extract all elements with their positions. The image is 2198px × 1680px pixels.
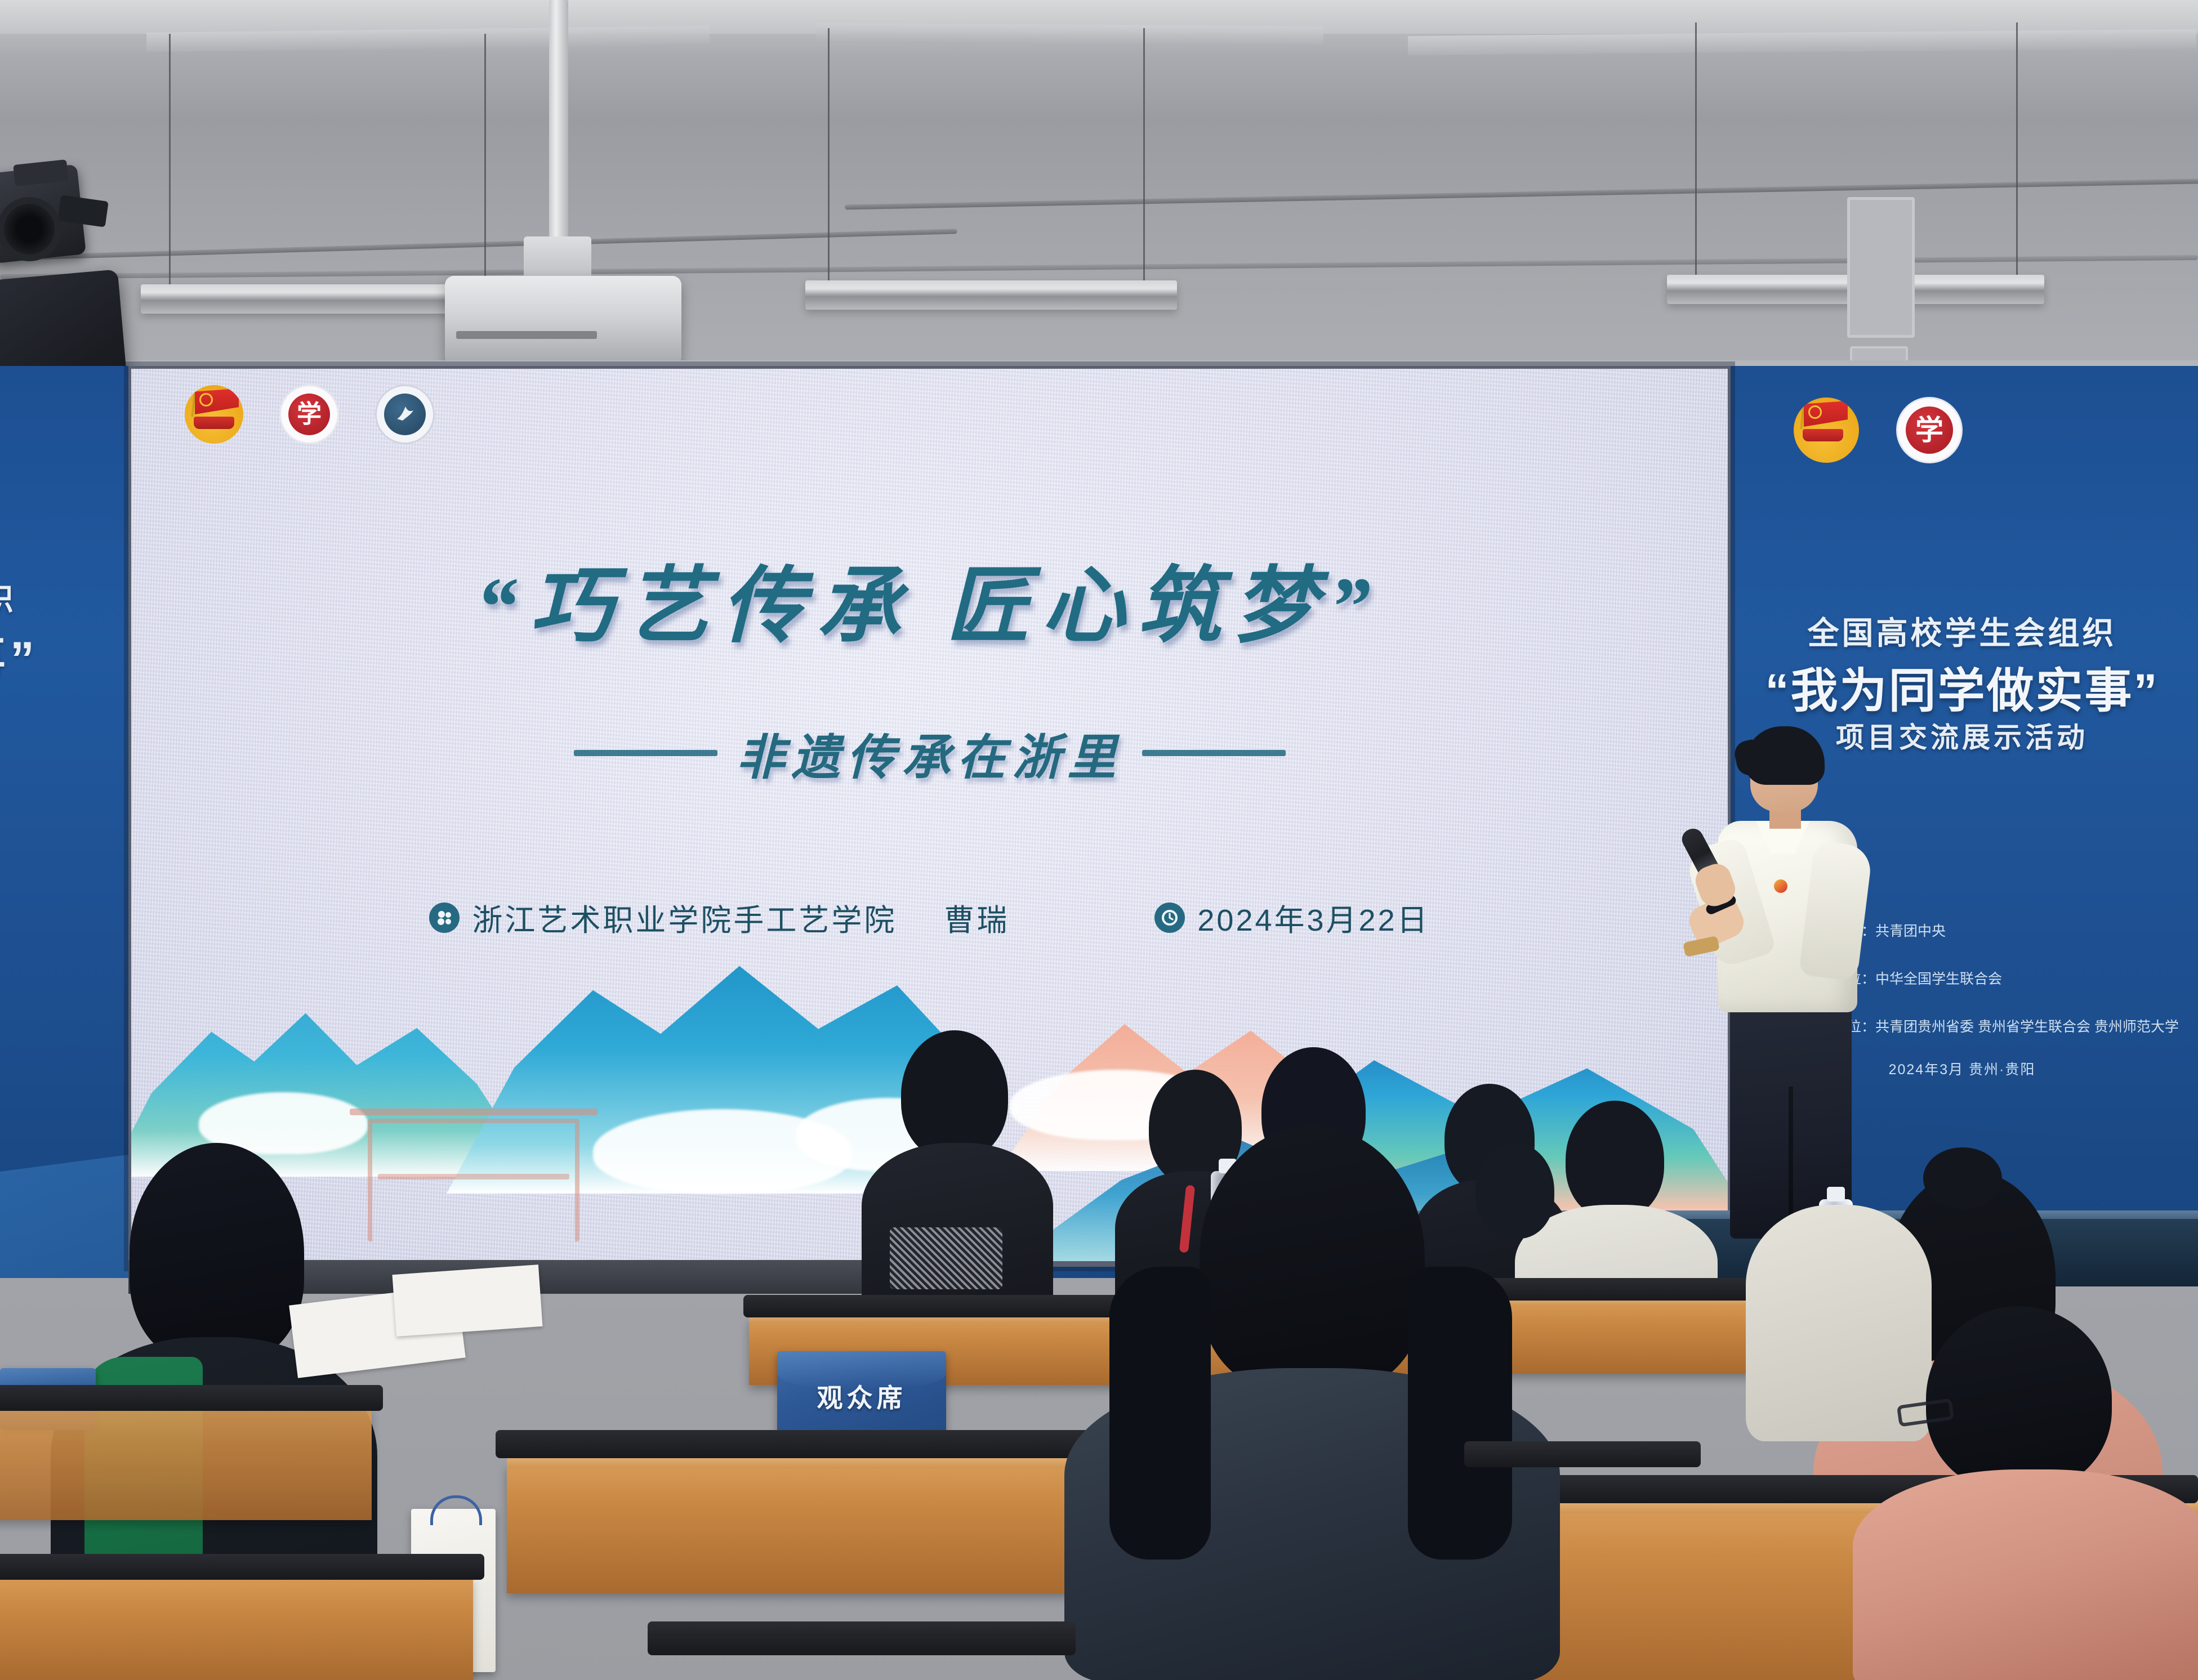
wall-mounted-display	[1847, 197, 1915, 338]
backdrop-slogan: “我为同学做实事”	[1726, 653, 2198, 721]
torii-frame-graphic	[368, 1119, 579, 1241]
head	[1566, 1101, 1664, 1219]
left-banner-line-2: 实事”	[0, 619, 39, 690]
light-hanger	[169, 34, 171, 293]
subtitle-rule-right	[1142, 750, 1286, 756]
communist-youth-league-emblem-icon	[1794, 397, 1859, 463]
light-hanger	[1695, 23, 1697, 287]
ceiling-projector	[445, 276, 681, 366]
ceiling	[0, 0, 2198, 394]
head	[1926, 1306, 2112, 1492]
ceiling-conduit	[0, 229, 957, 260]
slide-subtitle-row: 非遗传承在浙里	[131, 718, 1728, 788]
desk-rail	[0, 1554, 484, 1580]
zhejiang-art-academy-seal-icon	[375, 385, 435, 444]
light-hanger	[828, 28, 830, 293]
audience-seating-sign-label: 观众席	[817, 1378, 907, 1415]
student-federation-seal-icon: 学	[279, 385, 339, 444]
lecture-desk	[0, 1408, 372, 1520]
seal-character: 学	[288, 394, 330, 435]
hair-bun	[1923, 1147, 2002, 1209]
student-federation-seal-icon: 学	[1896, 397, 1963, 463]
presenter-hair	[1745, 726, 1825, 785]
lecture-desk	[0, 1576, 473, 1680]
desk-rail	[0, 1385, 383, 1411]
ceiling-light-bar	[141, 284, 496, 314]
projector-pole	[549, 0, 568, 242]
backdrop-title: 全国高校学生会组织	[1726, 608, 2198, 654]
long-hair-right	[1408, 1267, 1512, 1560]
slide-logo-row: 学	[185, 385, 435, 444]
slide-main-title: “巧艺传承 匠心筑梦”	[131, 538, 1728, 659]
chair-back-rail	[1464, 1441, 1701, 1467]
head	[130, 1143, 304, 1362]
light-hanger	[1143, 28, 1145, 293]
ceiling-conduit	[845, 178, 2198, 209]
left-banner-line-1: 会组织	[0, 574, 17, 619]
backdrop-logo-row: 学	[1794, 397, 1963, 463]
presenter-lapel-badge	[1774, 879, 1787, 893]
handout-paper	[392, 1265, 542, 1337]
subtitle-rule-left	[574, 750, 717, 756]
ceiling-beam	[817, 23, 1323, 46]
light-hanger	[484, 34, 486, 293]
ceiling-light-bar	[805, 280, 1177, 310]
screenshot-root: 会组织 实事” 活动 学 全国高校学生会组织 “我为同学做实事” 项目交流展示活…	[0, 0, 2198, 1680]
left-banner-strip: 会组织 实事” 活动	[0, 366, 141, 1278]
audience-member-foreground	[1875, 1306, 2198, 1680]
camera-lens-icon	[0, 197, 61, 261]
light-hanger	[2016, 23, 2018, 287]
chair-back-rail	[648, 1621, 1076, 1655]
head	[1200, 1126, 1425, 1391]
audience-seating-sign: 观众席	[777, 1351, 946, 1441]
head	[901, 1030, 1008, 1160]
audience-member	[867, 1030, 1036, 1323]
patterned-garment	[890, 1227, 1002, 1289]
seal-character: 学	[1906, 406, 1953, 454]
slide-subtitle: 非遗传承在浙里	[737, 718, 1123, 788]
torso-pink-jacket	[1853, 1469, 2198, 1680]
audience-member-foreground	[1087, 1126, 1537, 1680]
communist-youth-league-emblem-icon	[185, 385, 243, 444]
long-hair-left	[1109, 1267, 1211, 1560]
